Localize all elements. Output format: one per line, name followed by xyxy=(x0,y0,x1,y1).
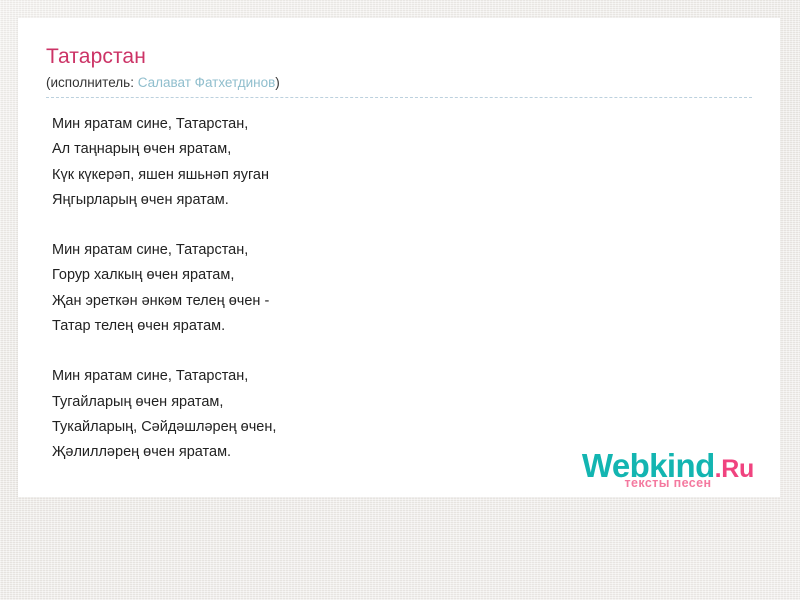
lyric-line: Җан эреткән әнкәм телең өчен - xyxy=(52,289,752,314)
lyric-line: Тукайларың, Сәйдәшләрең өчен, xyxy=(52,415,752,440)
byline-label: исполнитель: xyxy=(51,75,134,90)
page-title: Татарстан xyxy=(46,44,752,70)
artist-link[interactable]: Салават Фатхетдинов xyxy=(138,75,276,90)
lyrics-body: Мин яратам сине, Татарстан, Ал таңнарың … xyxy=(46,98,752,466)
lyric-line: Горур халкың өчен яратам, xyxy=(52,263,752,288)
logo-tld-text: .Ru xyxy=(715,455,754,483)
byline: (исполнитель: Салават Фатхетдинов) xyxy=(46,74,752,92)
lyric-line: Татар телең өчен яратам. xyxy=(52,314,752,339)
lyric-line: Яңгырларың өчен яратам. xyxy=(52,188,752,213)
site-logo[interactable]: Webkind.Ru тексты песен xyxy=(582,449,754,490)
lyric-line: Тугайларың өчен яратам, xyxy=(52,390,752,415)
lyric-line: Күк күкерәп, яшен яшьнәп яуган xyxy=(52,163,752,188)
lyric-line: Мин яратам сине, Татарстан, xyxy=(52,112,752,137)
lyric-line: Ал таңнарың өчен яратам, xyxy=(52,137,752,162)
lyrics-card: Татарстан (исполнитель: Салават Фатхетди… xyxy=(18,18,780,497)
lyric-line: Мин яратам сине, Татарстан, xyxy=(52,364,752,389)
lyrics-stanza: Мин яратам сине, Татарстан, Горур халкың… xyxy=(52,238,752,339)
header-divider xyxy=(46,97,752,98)
lyric-line: Мин яратам сине, Татарстан, xyxy=(52,238,752,263)
lyrics-stanza: Мин яратам сине, Татарстан, Ал таңнарың … xyxy=(52,112,752,213)
byline-close-paren: ) xyxy=(275,75,280,90)
